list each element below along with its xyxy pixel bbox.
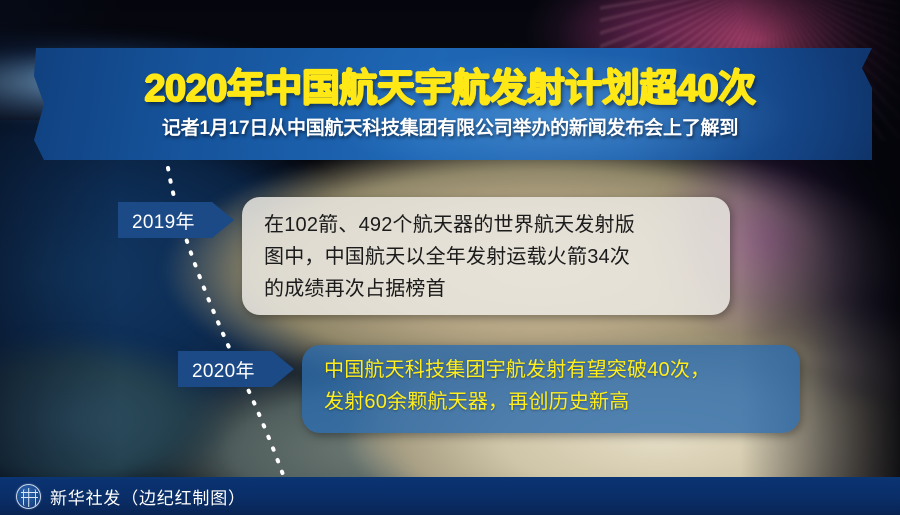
footer-bar: 新华社发（边纪红制图） [0,477,900,515]
page-title: 2020年中国航天宇航发射计划超40次 [144,70,755,109]
infographic-canvas: 2020年中国航天宇航发射计划超40次 记者1月17日从中国航天科技集团有限公司… [0,0,900,515]
timeline-year-tag-2020: 2020年 [178,351,294,387]
page-subtitle: 记者1月17日从中国航天科技集团有限公司举办的新闻发布会上了解到 [162,113,738,140]
timeline-callout-text-2020-line-2: 发射60余颗航天器，再创历史新高 [324,386,782,418]
timeline-callout-text-2019-line-2: 图中，中国航天以全年发射运载火箭34次 [264,241,712,273]
timeline-year-label-2019: 2019年 [132,207,195,234]
timeline-year-tag-2019: 2019年 [118,202,234,238]
header-banner: 2020年中国航天宇航发射计划超40次 记者1月17日从中国航天科技集团有限公司… [0,48,900,160]
timeline-callout-2019: 在102箭、492个航天器的世界航天发射版 图中，中国航天以全年发射运载火箭34… [242,197,730,315]
footer-credit: 新华社发（边纪红制图） [50,484,246,509]
xinhua-news-agency-logo-icon [16,484,41,509]
timeline-year-label-2020: 2020年 [192,356,255,383]
header-banner-content: 2020年中国航天宇航发射计划超40次 记者1月17日从中国航天科技集团有限公司… [0,48,900,160]
timeline-callout-text-2020-line-1: 中国航天科技集团宇航发射有望突破40次， [324,354,782,386]
timeline-callout-2020: 中国航天科技集团宇航发射有望突破40次， 发射60余颗航天器，再创历史新高 [302,345,800,433]
timeline-callout-text-2019-line-3: 的成绩再次占据榜首 [264,273,712,305]
timeline-callout-text-2019-line-1: 在102箭、492个航天器的世界航天发射版 [264,209,712,241]
